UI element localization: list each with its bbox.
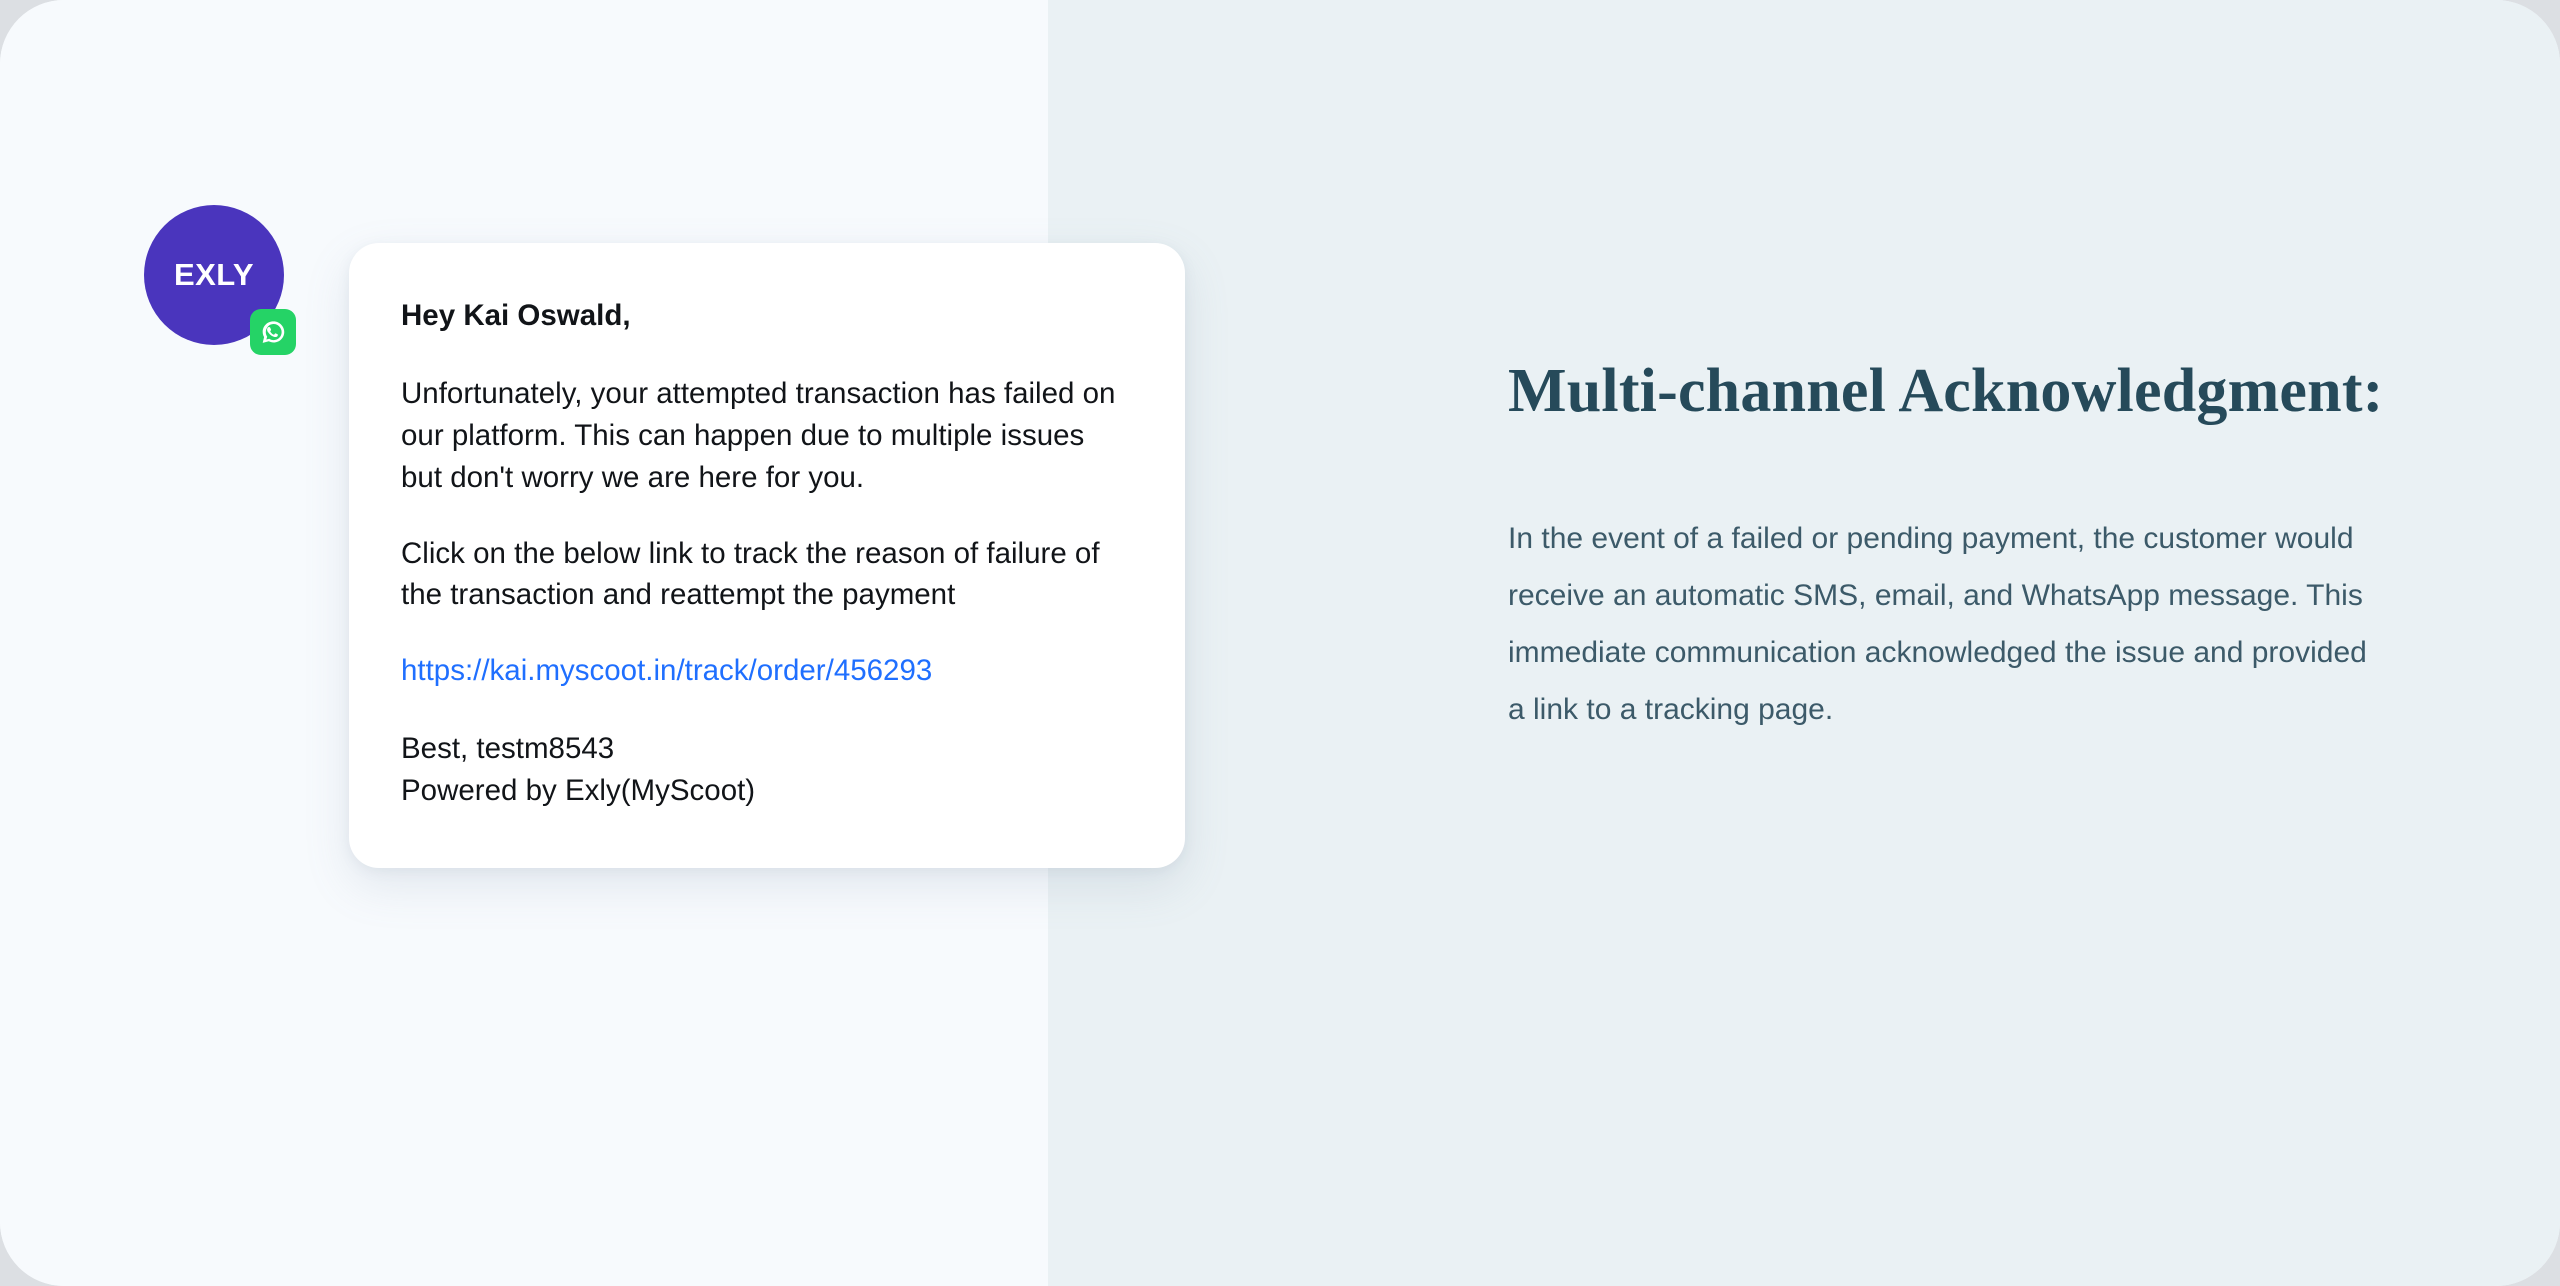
- explainer-panel: Multi-channel Acknowledgment: In the eve…: [1048, 0, 2560, 1286]
- tracking-link[interactable]: https://kai.myscoot.in/track/order/45629…: [401, 650, 1133, 692]
- message-paragraph-2: Click on the below link to track the rea…: [401, 533, 1133, 617]
- message-bubble: Hey Kai Oswald, Unfortunately, your atte…: [349, 243, 1185, 868]
- avatar-label: EXLY: [174, 257, 254, 293]
- message-greeting: Hey Kai Oswald,: [401, 295, 1133, 337]
- explainer-content: Multi-channel Acknowledgment: In the eve…: [1508, 355, 2408, 738]
- message-signature: Best, testm8543 Powered by Exly(MyScoot): [401, 728, 1133, 812]
- message-preview-panel: EXLY Hey Kai Oswald, Unfortunately, your…: [0, 0, 1048, 1286]
- message-paragraph-1: Unfortunately, your attempted transactio…: [401, 373, 1133, 499]
- explainer-body: In the event of a failed or pending paym…: [1508, 510, 2388, 738]
- whatsapp-icon: [250, 309, 296, 355]
- screenshot-card: EXLY Hey Kai Oswald, Unfortunately, your…: [0, 0, 2560, 1286]
- avatar: EXLY: [144, 205, 284, 345]
- explainer-title: Multi-channel Acknowledgment:: [1508, 355, 2408, 428]
